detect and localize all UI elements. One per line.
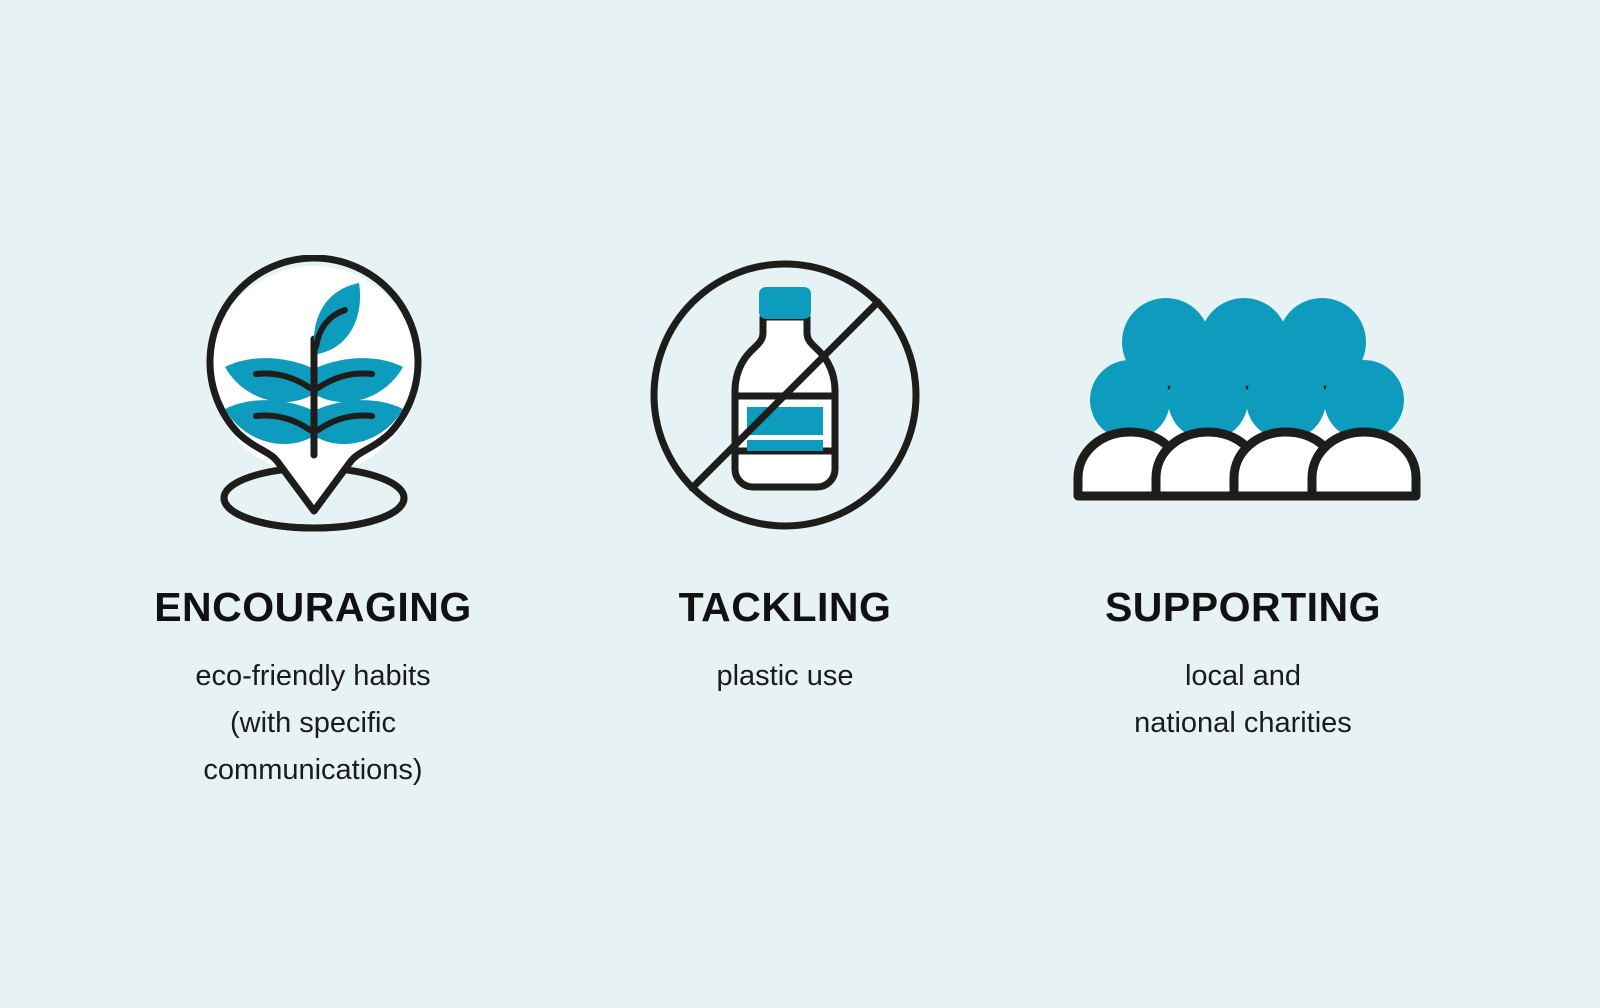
subtext-line: eco-friendly habits [195, 653, 430, 700]
heading-tackling: TACKLING [679, 585, 892, 630]
columns-container: ENCOURAGING eco-friendly habits (with sp… [0, 0, 1600, 1008]
subtext-supporting: local and national charities [1134, 653, 1352, 747]
column-encouraging: ENCOURAGING eco-friendly habits (with sp… [73, 250, 553, 794]
infographic-board: ENCOURAGING eco-friendly habits (with sp… [0, 0, 1600, 1008]
subtext-line: local and [1134, 653, 1352, 700]
subtext-line: communications) [195, 747, 430, 794]
subtext-encouraging: eco-friendly habits (with specific commu… [195, 653, 430, 794]
group-of-people-icon [1058, 250, 1428, 540]
subtext-tackling: plastic use [716, 653, 853, 700]
subtext-line: national charities [1134, 700, 1352, 747]
subtext-line: (with specific [195, 700, 430, 747]
heading-supporting: SUPPORTING [1105, 585, 1381, 630]
no-plastic-bottle-icon [645, 250, 925, 540]
column-supporting: SUPPORTING local and national charities [1043, 250, 1443, 747]
heading-encouraging: ENCOURAGING [154, 585, 472, 630]
subtext-line: plastic use [716, 653, 853, 700]
column-tackling: TACKLING plastic use [585, 250, 985, 700]
plant-location-pin-icon [183, 250, 443, 540]
